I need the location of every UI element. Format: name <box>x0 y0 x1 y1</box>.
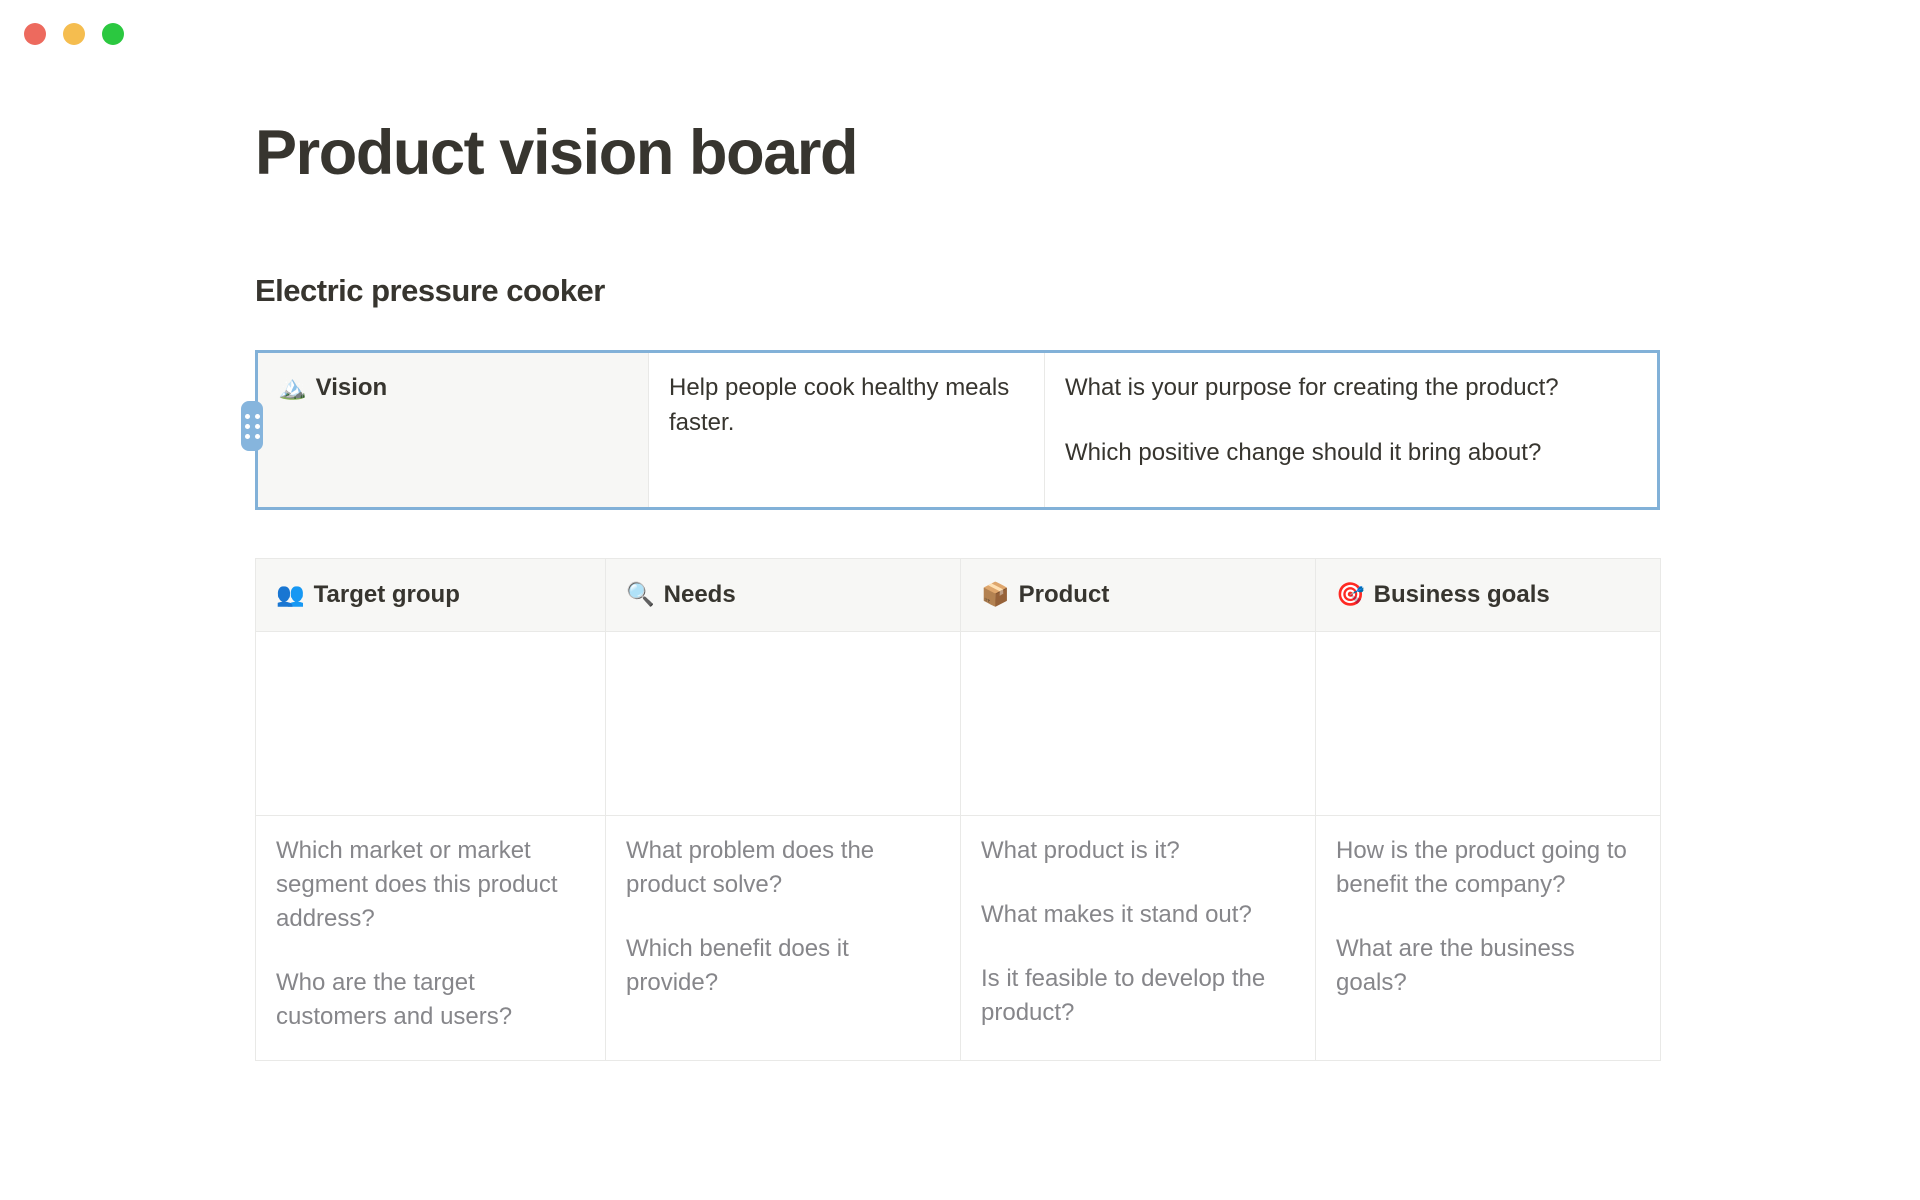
page-subtitle[interactable]: Electric pressure cooker <box>255 272 605 309</box>
snow-capped-mountain-icon: 🏔️ <box>278 374 307 400</box>
direct-hit-icon: 🎯 <box>1336 581 1365 607</box>
drag-handle-icon[interactable] <box>241 401 263 451</box>
window-titlebar <box>0 0 1920 64</box>
close-button[interactable] <box>24 23 46 45</box>
vision-prompt-2: Which positive change should it bring ab… <box>1065 436 1637 471</box>
vision-table-block[interactable]: 🏔️Vision Help people cook healthy meals … <box>255 350 1660 510</box>
vision-value-cell[interactable]: Help people cook healthy meals faster. <box>649 353 1045 507</box>
prompt-text: What makes it stand out? <box>981 898 1295 932</box>
busts-in-silhouette-icon: 👥 <box>276 581 305 607</box>
header-label-business-goals: Business goals <box>1374 581 1550 608</box>
maximize-button[interactable] <box>102 23 124 45</box>
empty-cell-target-group[interactable] <box>256 632 606 816</box>
table-header-row: 👥Target group 🔍Needs 📦Product 🎯Business … <box>256 559 1661 632</box>
prompt-text: What are the business goals? <box>1336 932 1640 1000</box>
drag-dots-icon <box>245 414 260 439</box>
header-label-needs: Needs <box>664 581 736 608</box>
traffic-lights <box>24 23 124 45</box>
prompt-text: Which market or market segment does this… <box>276 834 585 936</box>
prompt-text: What problem does the product solve? <box>626 834 940 902</box>
header-label-target-group: Target group <box>314 581 460 608</box>
vision-label-text: Vision <box>316 374 388 401</box>
vision-board-table: 👥Target group 🔍Needs 📦Product 🎯Business … <box>255 558 1661 1061</box>
vision-table: 🏔️Vision Help people cook healthy meals … <box>258 353 1657 507</box>
empty-cell-product[interactable] <box>961 632 1316 816</box>
header-cell-target-group[interactable]: 👥Target group <box>256 559 606 632</box>
package-icon: 📦 <box>981 581 1010 607</box>
prompt-text: Is it feasible to develop the product? <box>981 962 1295 1030</box>
header-label-product: Product <box>1019 581 1110 608</box>
prompt-text: What product is it? <box>981 834 1295 868</box>
prompt-text: Who are the target customers and users? <box>276 966 585 1034</box>
prompt-cell-product[interactable]: What product is it? What makes it stand … <box>961 816 1316 1061</box>
prompt-cell-needs[interactable]: What problem does the product solve? Whi… <box>606 816 961 1061</box>
prompt-text: Which benefit does it provide? <box>626 932 940 1000</box>
table-row-prompts: Which market or market segment does this… <box>256 816 1661 1061</box>
vision-prompts-cell[interactable]: What is your purpose for creating the pr… <box>1045 353 1658 507</box>
minimize-button[interactable] <box>63 23 85 45</box>
vision-prompt-1: What is your purpose for creating the pr… <box>1065 371 1637 406</box>
vision-label-cell[interactable]: 🏔️Vision <box>258 353 649 507</box>
prompt-cell-business-goals[interactable]: How is the product going to benefit the … <box>1316 816 1661 1061</box>
empty-cell-needs[interactable] <box>606 632 961 816</box>
header-cell-product[interactable]: 📦Product <box>961 559 1316 632</box>
vision-value-text: Help people cook healthy meals faster. <box>669 374 1009 436</box>
header-cell-business-goals[interactable]: 🎯Business goals <box>1316 559 1661 632</box>
page-title[interactable]: Product vision board <box>255 118 857 189</box>
table-row-empty <box>256 632 1661 816</box>
prompt-text: How is the product going to benefit the … <box>1336 834 1640 902</box>
header-cell-needs[interactable]: 🔍Needs <box>606 559 961 632</box>
prompt-cell-target-group[interactable]: Which market or market segment does this… <box>256 816 606 1061</box>
empty-cell-business-goals[interactable] <box>1316 632 1661 816</box>
table-row: 🏔️Vision Help people cook healthy meals … <box>258 353 1657 507</box>
magnifying-glass-icon: 🔍 <box>626 581 655 607</box>
